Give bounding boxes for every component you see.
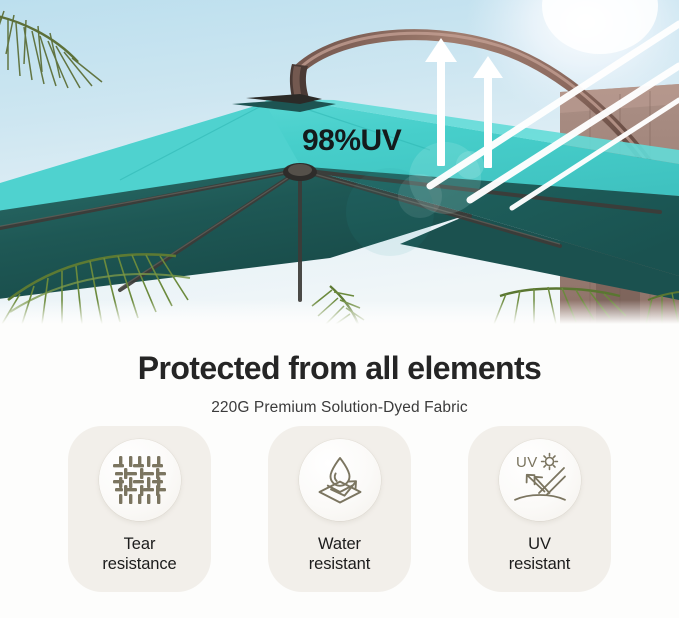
page-subtitle: 220G Premium Solution-Dyed Fabric [0, 399, 679, 417]
uv-percentage-label: 98%UV [302, 126, 401, 156]
feature-card-uv-resistant: UV [468, 426, 611, 592]
feature-label-line1: Water [318, 535, 361, 553]
content-panel: Protected from all elements 220G Premium… [0, 324, 679, 618]
svg-text:UV: UV [516, 454, 538, 471]
weave-icon [99, 439, 181, 521]
hero-illustration [0, 0, 679, 324]
product-feature-graphic: 98%UV Protected from all elements 220G P… [0, 0, 679, 618]
feature-card-tear-resistance: Tear resistance [68, 426, 211, 592]
feature-card-water-resistant: Water resistant [268, 426, 411, 592]
feature-label-line1: UV [528, 535, 551, 553]
feature-card-list: Tear resistance [0, 426, 679, 592]
feature-label-line1: Tear [124, 535, 156, 553]
page-title: Protected from all elements [0, 351, 679, 386]
feature-label-line2: resistant [309, 554, 370, 574]
feature-card-label: Tear resistance [102, 534, 176, 574]
feature-card-label: UV resistant [509, 534, 570, 574]
feature-label-line2: resistance [102, 554, 176, 574]
feature-label-line2: resistant [509, 554, 570, 574]
uv-sun-reflect-icon: UV [499, 439, 581, 521]
hero-photo: 98%UV [0, 0, 679, 324]
feature-card-label: Water resistant [309, 534, 370, 574]
water-droplet-repel-icon [299, 439, 381, 521]
